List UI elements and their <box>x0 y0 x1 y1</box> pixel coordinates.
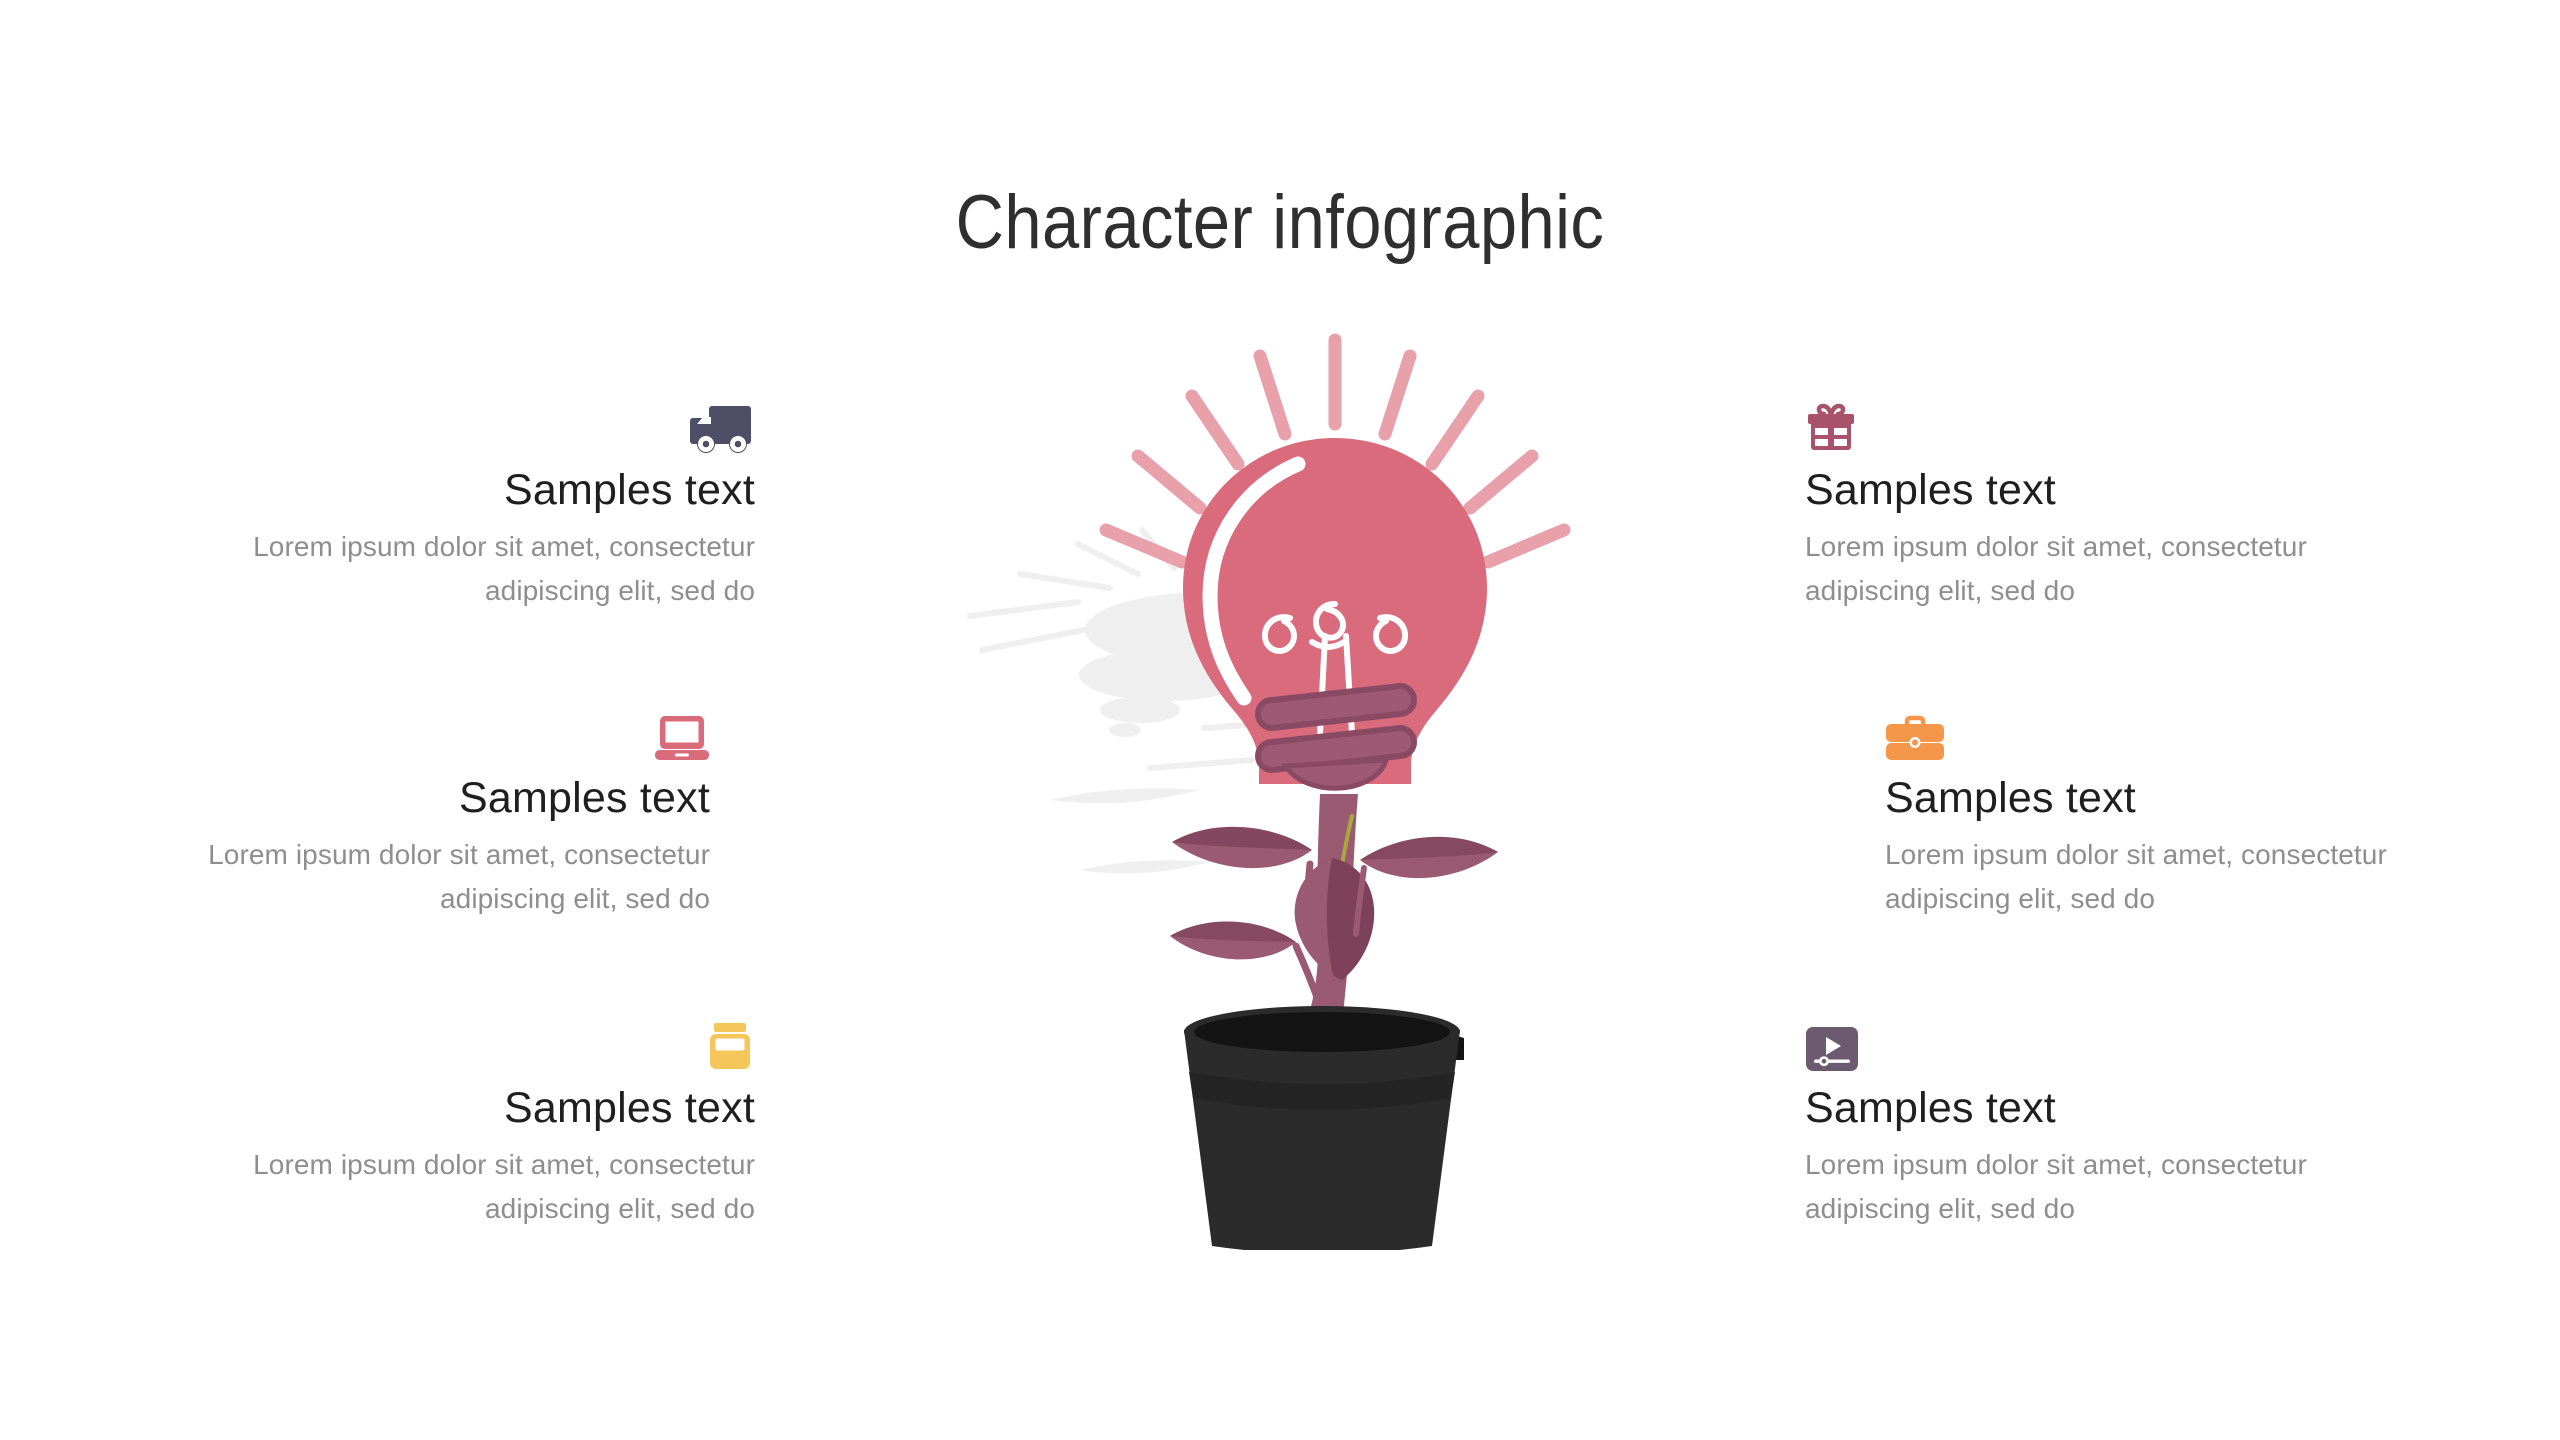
icon-container <box>1805 1010 2405 1072</box>
info-item-body-line2: adipiscing elit, sed do <box>1805 569 2405 613</box>
info-item-video[interactable]: Samples text Lorem ipsum dolor sit amet,… <box>1805 1010 2405 1232</box>
info-item-heading: Samples text <box>155 1086 755 1131</box>
lightbulb-plant-illustration <box>960 330 1660 1250</box>
info-item-body-line2: adipiscing elit, sed do <box>155 1187 755 1231</box>
briefcase-icon <box>1885 714 1945 762</box>
video-player-icon <box>1805 1026 1859 1072</box>
icon-container <box>1885 700 2485 762</box>
info-item-body-line1: Lorem ipsum dolor sit amet, consectetur <box>155 1143 755 1187</box>
info-item-body-line1: Lorem ipsum dolor sit amet, consectetur <box>1805 525 2405 569</box>
info-item-body-line1: Lorem ipsum dolor sit amet, consectetur <box>1885 833 2485 877</box>
info-item-body-line2: adipiscing elit, sed do <box>155 569 755 613</box>
info-item-briefcase[interactable]: Samples text Lorem ipsum dolor sit amet,… <box>1885 700 2485 922</box>
info-item-truck[interactable]: Samples text Lorem ipsum dolor sit amet,… <box>155 392 755 614</box>
info-item-heading: Samples text <box>1805 1086 2405 1131</box>
info-item-laptop[interactable]: Samples text Lorem ipsum dolor sit amet,… <box>110 700 710 922</box>
info-item-jar[interactable]: Samples text Lorem ipsum dolor sit amet,… <box>155 1010 755 1232</box>
icon-container <box>155 1010 755 1072</box>
infographic-canvas: Character infographic Samples text Lorem… <box>0 0 2560 1440</box>
icon-container <box>1805 392 2405 454</box>
flower-pot <box>1184 1006 1460 1250</box>
info-item-body-line2: adipiscing elit, sed do <box>1885 877 2485 921</box>
info-item-body-line1: Lorem ipsum dolor sit amet, consectetur <box>110 833 710 877</box>
info-item-heading: Samples text <box>155 468 755 513</box>
info-item-body-line1: Lorem ipsum dolor sit amet, consectetur <box>1805 1143 2405 1187</box>
info-item-heading: Samples text <box>1805 468 2405 513</box>
info-item-heading: Samples text <box>110 776 710 821</box>
gift-box-icon <box>1805 402 1857 454</box>
info-item-body-line1: Lorem ipsum dolor sit amet, consectetur <box>155 525 755 569</box>
icon-container <box>155 392 755 454</box>
laptop-icon <box>654 714 710 762</box>
info-item-heading: Samples text <box>1885 776 2485 821</box>
info-item-body-line2: adipiscing elit, sed do <box>110 877 710 921</box>
delivery-truck-icon <box>689 404 755 454</box>
jar-icon <box>705 1022 755 1072</box>
info-item-body-line2: adipiscing elit, sed do <box>1805 1187 2405 1231</box>
icon-container <box>110 700 710 762</box>
info-item-gift[interactable]: Samples text Lorem ipsum dolor sit amet,… <box>1805 392 2405 614</box>
page-title: Character infographic <box>154 185 2407 261</box>
